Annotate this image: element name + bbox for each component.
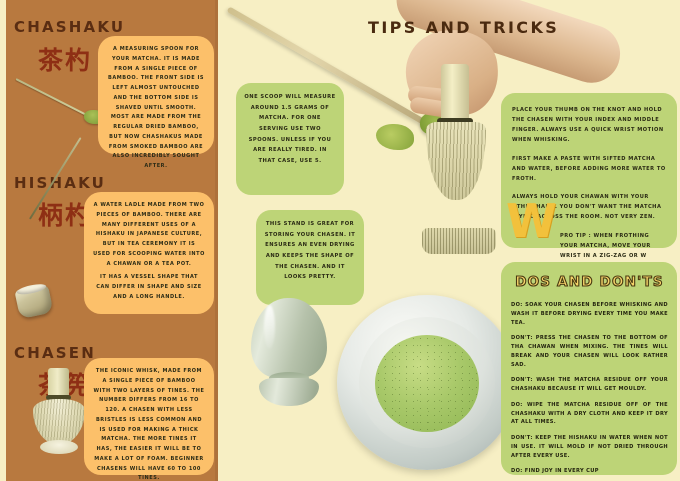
stand-note-card: THIS STAND IS GREAT FOR STORING YOUR CHA… bbox=[256, 210, 364, 305]
bamboo-whisk-photo bbox=[28, 368, 90, 458]
dos-item: DON'T: PRESS THE CHASEN TO THE BOTTOM OF… bbox=[511, 334, 668, 369]
dos-item: DO: WIPE THE MATCHA RESIDUE OFF OF THE C… bbox=[511, 401, 668, 427]
hishaku-description: A WATER LADLE MADE FROM TWO PIECES OF BA… bbox=[93, 201, 205, 269]
matcha-tea-surface bbox=[375, 335, 479, 432]
scoop-note-card: ONE SCOOP WILL MEASURE AROUND 1.5 GRAMS … bbox=[236, 83, 344, 195]
dos-item: DO: SOAK YOUR CHASEN BEFORE WHISKING AND… bbox=[511, 301, 668, 327]
chashaku-description: A MEASURING SPOON FOR YOUR MATCHA. IT IS… bbox=[107, 45, 205, 172]
dos-and-donts-heading: DOS AND DON'TS bbox=[511, 271, 668, 294]
held-chasen-tines bbox=[426, 122, 486, 200]
section-title-chashaku: CHASHAKU bbox=[14, 18, 125, 36]
section-title-chasen: CHASEN bbox=[14, 344, 96, 362]
stand-dome bbox=[251, 298, 327, 378]
section-title-hishaku: HISHAKU bbox=[14, 174, 106, 192]
dos-item: DON'T: WASH THE MATCHA RESIDUE OFF YOUR … bbox=[511, 376, 668, 394]
stand-foot bbox=[259, 378, 319, 406]
section-kanji-chashaku: 茶杓 bbox=[38, 41, 92, 77]
held-chasen bbox=[424, 64, 490, 204]
chashaku-description-card: A MEASURING SPOON FOR YOUR MATCHA. IT IS… bbox=[98, 36, 214, 154]
whisk-base bbox=[40, 440, 78, 454]
matcha-powder-clump bbox=[376, 124, 414, 150]
dos-item: DO: FIND JOY IN EVERY CUP bbox=[511, 467, 668, 476]
matcha-bowl-photo bbox=[337, 295, 517, 470]
left-margin-strip bbox=[0, 0, 6, 481]
held-chasen-handle bbox=[441, 64, 469, 122]
whisk-handle bbox=[48, 368, 69, 398]
whisk-tines bbox=[33, 399, 85, 445]
matcha-tools-infographic: CHASHAKU 茶杓 A MEASURING SPOON FOR YOUR M… bbox=[0, 0, 680, 481]
stand-note-text: THIS STAND IS GREAT FOR STORING YOUR CHA… bbox=[265, 221, 356, 280]
chasen-description: THE ICONIC WHISK, MADE FROM A SINGLE PIE… bbox=[93, 367, 205, 481]
hishaku-description-extra: IT HAS A VESSEL SHAPE THAT CAN DIFFER IN… bbox=[93, 273, 205, 302]
chasen-description-card: THE ICONIC WHISK, MADE FROM A SINGLE PIE… bbox=[84, 358, 214, 475]
tip-1: PLACE YOUR THUMB ON THE KNOT AND HOLD TH… bbox=[512, 106, 668, 146]
dos-item: DON'T: KEEP THE HISHAKU IN WATER WHEN NO… bbox=[511, 434, 668, 460]
w-motion-letter: W bbox=[506, 203, 557, 240]
dos-and-donts-panel: DOS AND DON'TS DO: SOAK YOUR CHASEN BEFO… bbox=[501, 262, 677, 475]
bowl-inner bbox=[359, 317, 495, 448]
scoop-note-text: ONE SCOOP WILL MEASURE AROUND 1.5 GRAMS … bbox=[244, 94, 335, 164]
tips-and-tricks-heading: TIPS AND TRICKS bbox=[368, 18, 559, 37]
hishaku-description-card: A WATER LADLE MADE FROM TWO PIECES OF BA… bbox=[84, 192, 214, 314]
tip-2: FIRST MAKE A PASTE WITH SIFTED MATCHA AN… bbox=[512, 155, 668, 185]
chasen-stand-photo bbox=[243, 298, 335, 408]
column-divider-strip bbox=[218, 0, 222, 481]
